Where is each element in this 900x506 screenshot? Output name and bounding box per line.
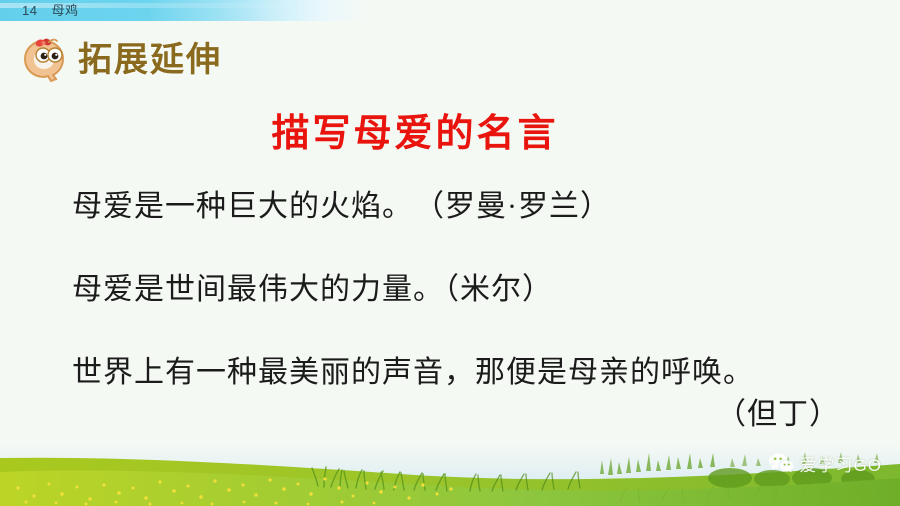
section-heading: 拓展延伸 <box>18 34 222 86</box>
quote-line: 母爱是一种巨大的火焰。 （罗曼·罗兰） <box>72 186 862 228</box>
lesson-number: 14 <box>22 1 37 20</box>
grass-landscape-decoration <box>0 444 900 506</box>
wechat-icon <box>768 452 794 479</box>
q-mascot-icon <box>18 34 70 86</box>
wechat-watermark-label: 爱学习GO <box>800 456 882 476</box>
lesson-bar-content: 14 母鸡 <box>22 1 78 20</box>
content-title: 描写母爱的名言 <box>0 110 830 158</box>
slide-canvas: 14 母鸡 拓 <box>0 0 900 506</box>
quote-line: 母爱是世间最伟大的力量。（米尔） <box>72 269 862 311</box>
lesson-bar: 14 母鸡 <box>0 0 460 21</box>
quote-list: 母爱是一种巨大的火焰。 （罗曼·罗兰） 母爱是世间最伟大的力量。（米尔） 世界上… <box>72 186 862 436</box>
wechat-watermark: 爱学习GO <box>768 452 882 479</box>
lesson-title: 母鸡 <box>51 1 78 20</box>
section-heading-label: 拓展延伸 <box>78 38 222 82</box>
quote-line: 世界上有一种最美丽的声音，那便是母亲的呼唤。 <box>72 352 862 394</box>
quote-attribution: （但丁） <box>72 394 862 436</box>
